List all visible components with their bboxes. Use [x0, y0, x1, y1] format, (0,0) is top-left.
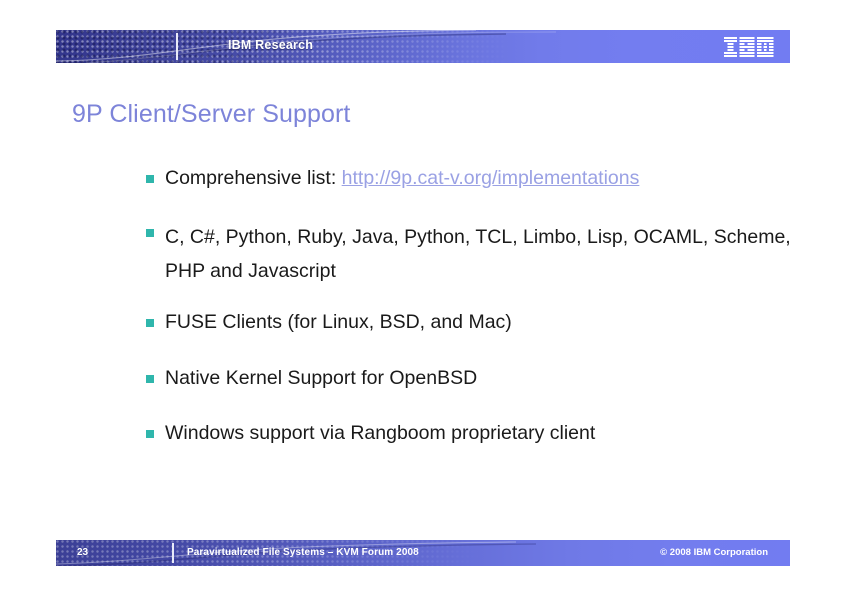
list-item-text: C, C#, Python, Ruby, Java, Python, TCL, …: [165, 220, 794, 288]
list-item-text: FUSE Clients (for Linux, BSD, and Mac): [165, 310, 794, 336]
footer-presentation-title: Paravirtualized File Systems – KVM Forum…: [187, 547, 419, 558]
list-item-text: Native Kernel Support for OpenBSD: [165, 366, 794, 392]
ibm-logo-icon: [724, 37, 776, 57]
slide-footer-banner: 23 Paravirtualized File Systems – KVM Fo…: [56, 540, 790, 566]
page-title: 9P Client/Server Support: [72, 100, 350, 129]
slide-page-number: 23: [77, 547, 88, 558]
bullet-square-icon: [146, 229, 154, 237]
list-item-text: Comprehensive list: http://9p.cat-v.org/…: [165, 166, 794, 192]
list-item: Comprehensive list: http://9p.cat-v.org/…: [146, 166, 794, 192]
presentation-slide: IBM Research: [0, 0, 846, 598]
list-item: Native Kernel Support for OpenBSD: [146, 366, 794, 392]
list-item-prefix: Comprehensive list:: [165, 167, 342, 189]
header-divider: [176, 33, 178, 60]
bullet-square-icon: [146, 375, 154, 383]
bullet-square-icon: [146, 319, 154, 327]
slide-header-banner: IBM Research: [56, 30, 790, 63]
bullet-square-icon: [146, 175, 154, 183]
footer-divider: [172, 543, 174, 563]
list-item-text: Windows support via Rangboom proprietary…: [165, 421, 794, 447]
header-brand-label: IBM Research: [228, 38, 313, 52]
list-item: Windows support via Rangboom proprietary…: [146, 421, 794, 447]
implementations-link[interactable]: http://9p.cat-v.org/implementations: [342, 167, 640, 189]
list-item: C, C#, Python, Ruby, Java, Python, TCL, …: [146, 220, 794, 288]
header-swoosh-curve-icon: [56, 30, 790, 63]
bullet-square-icon: [146, 430, 154, 438]
slide-body-bullet-list: Comprehensive list: http://9p.cat-v.org/…: [146, 166, 794, 447]
list-item: FUSE Clients (for Linux, BSD, and Mac): [146, 310, 794, 336]
footer-copyright: © 2008 IBM Corporation: [660, 547, 768, 558]
